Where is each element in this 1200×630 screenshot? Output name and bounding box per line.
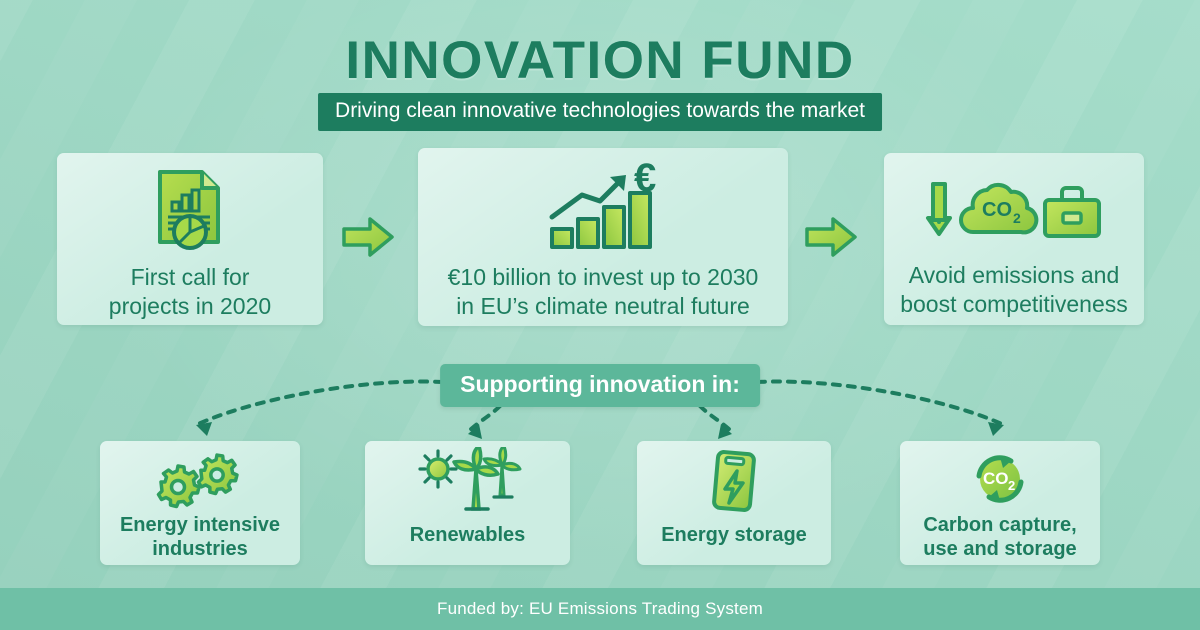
connector-left-inner: [468, 406, 500, 432]
connector-left-outer: [196, 382, 442, 425]
card-renewables-label: Renewables: [365, 523, 570, 547]
card-investment: € €10 billion to invest up to 2030 in EU…: [418, 148, 788, 326]
sun-wind-turbine-icon: [365, 449, 570, 511]
card-line: use and storage: [900, 537, 1100, 561]
arrowhead-right-outer: [988, 422, 1004, 436]
card-avoid-emissions-label: Avoid emissions and boost competitivenes…: [884, 261, 1144, 320]
card-energy-intensive-industries: Energy intensive industries: [100, 441, 300, 565]
gears-icon: [100, 449, 300, 511]
arrowhead-right-inner: [718, 424, 732, 439]
footer-bar: Funded by: EU Emissions Trading System: [0, 588, 1200, 630]
footer-text: Funded by: EU Emissions Trading System: [437, 599, 763, 619]
card-line: Energy intensive: [100, 513, 300, 537]
growth-bars-euro-icon: €: [418, 158, 788, 258]
card-line: in EU’s climate neutral future: [418, 292, 788, 321]
card-line: Renewables: [365, 523, 570, 547]
card-energy-storage-label: Energy storage: [637, 523, 831, 547]
card-energy-storage: Energy storage: [637, 441, 831, 565]
card-line: €10 billion to invest up to 2030: [418, 263, 788, 292]
battery-bolt-icon: [637, 449, 831, 511]
card-first-call-label: First call for projects in 2020: [57, 263, 323, 322]
connector-right-inner: [700, 406, 732, 432]
page-title: INNOVATION FUND: [0, 30, 1200, 91]
card-investment-label: €10 billion to invest up to 2030 in EU’s…: [418, 263, 788, 322]
supporting-innovation-banner: Supporting innovation in:: [440, 364, 760, 407]
svg-text:2: 2: [1008, 478, 1015, 493]
card-line: industries: [100, 537, 300, 561]
document-chart-icon: [57, 167, 323, 255]
arrowhead-left-inner: [468, 424, 482, 439]
arrow-right-icon: [340, 213, 396, 266]
card-line: Energy storage: [637, 523, 831, 547]
co2-recycle-icon: CO 2: [900, 449, 1100, 511]
card-first-call: First call for projects in 2020: [57, 153, 323, 325]
co2-down-briefcase-icon: CO 2: [884, 173, 1144, 253]
arrowhead-left-outer: [196, 422, 212, 436]
card-line: Avoid emissions and: [884, 261, 1144, 290]
card-line: Carbon capture,: [900, 513, 1100, 537]
card-line: First call for: [57, 263, 323, 292]
card-energy-intensive-industries-label: Energy intensive industries: [100, 513, 300, 562]
svg-text:2: 2: [1013, 210, 1021, 226]
card-carbon-capture: CO 2 Carbon capture, use and storage: [900, 441, 1100, 565]
card-line: boost competitiveness: [884, 290, 1144, 319]
connector-right-outer: [758, 382, 1004, 425]
card-line: projects in 2020: [57, 292, 323, 321]
svg-text:CO: CO: [982, 199, 1012, 221]
card-avoid-emissions: CO 2 Avoid emissions and boost competiti…: [884, 153, 1144, 325]
card-carbon-capture-label: Carbon capture, use and storage: [900, 513, 1100, 562]
page-subtitle-banner: Driving clean innovative technologies to…: [318, 93, 882, 131]
arrow-right-icon: [803, 213, 859, 266]
infographic-poster: INNOVATION FUND Driving clean innovative…: [0, 0, 1200, 630]
svg-text:CO: CO: [983, 469, 1009, 488]
card-renewables: Renewables: [365, 441, 570, 565]
